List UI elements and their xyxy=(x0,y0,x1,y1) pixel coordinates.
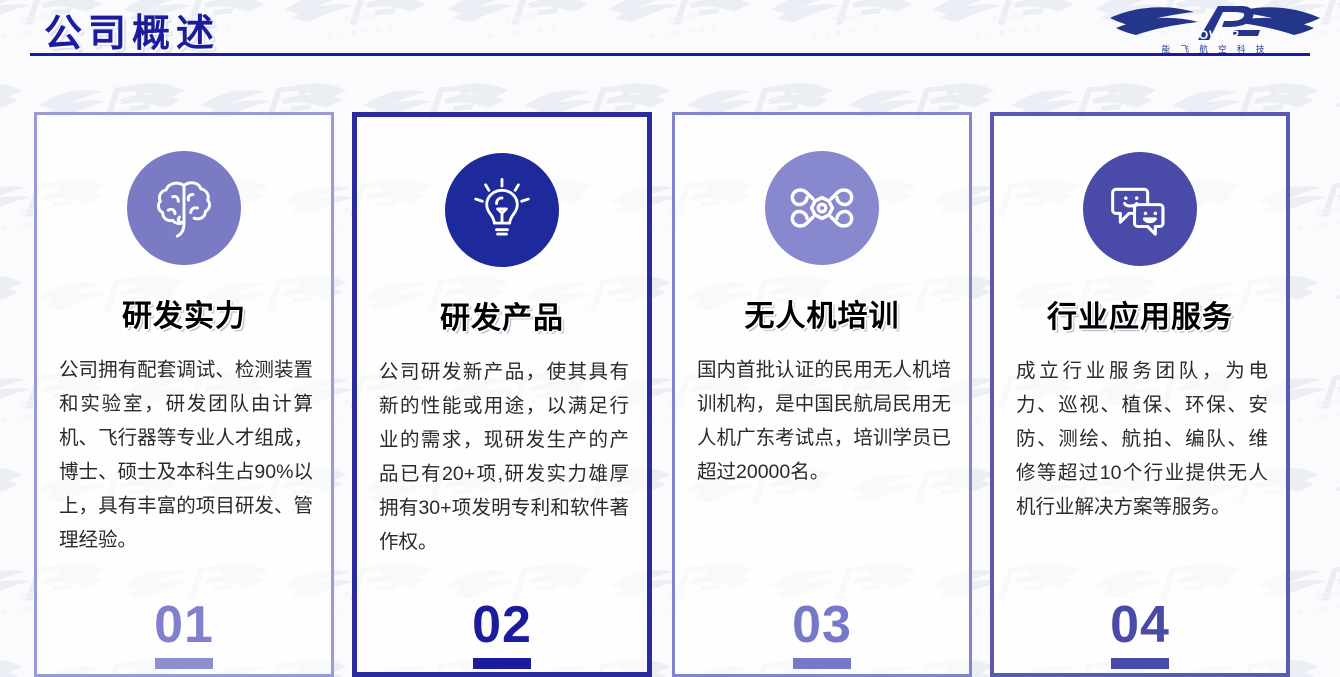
card-body-text: 国内首批认证的民用无人机培训机构，是中国民航局民用无人机广东考试点，培训学员已超… xyxy=(697,353,951,489)
card-industry-application-services[interactable]: 行业应用服务 成立行业服务团队，为电力、巡视、植保、环保、安防、测绘、航拍、编队… xyxy=(990,112,1290,677)
company-logo: POWER 能 飞 航 空 科 技 xyxy=(1106,0,1324,56)
card-research-strength[interactable]: 研发实力 公司拥有配套调试、检测装置和实验室，研发团队由计算机、飞行器等专业人才… xyxy=(34,112,334,677)
card-icon-wrap xyxy=(994,152,1286,266)
page-title: 公司概述 xyxy=(44,2,220,57)
card-drone-training[interactable]: 无人机培训 国内首批认证的民用无人机培训机构，是中国民航局民用无人机广东考试点，… xyxy=(672,112,972,677)
card-title: 研发产品 xyxy=(357,293,647,337)
card-icon-wrap xyxy=(675,151,969,265)
card-title: 行业应用服务 xyxy=(994,292,1286,336)
card-icon-wrap xyxy=(357,153,647,267)
card-body-text: 成立行业服务团队，为电力、巡视、植保、环保、安防、测绘、航拍、编队、维修等超过1… xyxy=(1016,354,1268,524)
card-title: 无人机培训 xyxy=(675,291,969,335)
brain-icon xyxy=(127,151,241,265)
feature-cards-row: 研发实力 公司拥有配套调试、检测装置和实验室，研发团队由计算机、飞行器等专业人才… xyxy=(0,0,1340,677)
chat-bubbles-icon xyxy=(1083,152,1197,266)
card-title: 研发实力 xyxy=(37,291,331,335)
slide-company-overview: POWER 能 飞 航 空 科 技 POWER 能 飞 航 空 科 技 POWE… xyxy=(0,0,1340,677)
card-body-text: 公司研发新产品，使其具有新的性能或用途，以满足行业的需求，现研发生产的产品已有2… xyxy=(379,355,629,559)
svg-text:能 飞 航 空 科 技: 能 飞 航 空 科 技 xyxy=(1162,44,1269,54)
slide-header: 公司概述 POWER 能 飞 航 空 科 技 xyxy=(0,0,1340,62)
drone-icon xyxy=(765,151,879,265)
card-body-text: 公司拥有配套调试、检测装置和实验室，研发团队由计算机、飞行器等专业人才组成，博士… xyxy=(59,353,313,557)
svg-text:POWER: POWER xyxy=(1190,28,1240,42)
card-research-products[interactable]: 研发产品 公司研发新产品，使其具有新的性能或用途，以满足行业的需求，现研发生产的… xyxy=(352,112,652,677)
card-icon-wrap xyxy=(37,151,331,265)
lightbulb-icon xyxy=(445,153,559,267)
